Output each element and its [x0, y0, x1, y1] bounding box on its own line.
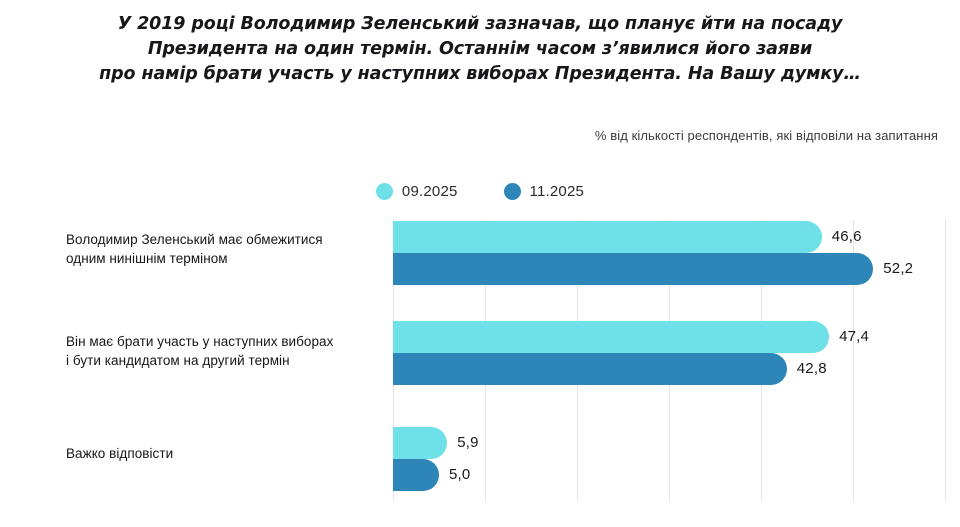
bar-s0-c0[interactable] — [393, 221, 822, 253]
chart-legend: 09.2025 11.2025 — [0, 183, 960, 200]
bar-value-s0-c2: 5,9 — [457, 427, 478, 459]
page-title: У 2019 році Володимир Зеленський зазнача… — [0, 12, 960, 87]
bar-value-s0-c1: 47,4 — [839, 321, 869, 353]
chart-plot-area: Володимир Зеленський має обмежитися одни… — [0, 212, 960, 507]
chart-subcaption: % від кількості респондентів, які відпов… — [595, 128, 938, 143]
legend-dot-icon — [504, 183, 521, 200]
bar-value-s0-c0: 46,6 — [832, 221, 862, 253]
bar-value-s1-c1: 42,8 — [797, 353, 827, 385]
category-label-2: Важко відповісти — [66, 444, 386, 463]
category-label-2-line-1: Важко відповісти — [66, 444, 386, 463]
legend-dot-icon — [376, 183, 393, 200]
title-line-2: Президента на один термін. Останнім часо… — [0, 37, 960, 62]
bar-s1-c0[interactable] — [393, 253, 873, 285]
category-label-0-line-2: одним нинішнім терміном — [66, 249, 386, 268]
bar-s1-c2[interactable] — [393, 459, 439, 491]
title-line-3: про намір брати участь у наступних вибор… — [0, 62, 960, 87]
bar-s0-c2[interactable] — [393, 427, 447, 459]
bar-s1-c1[interactable] — [393, 353, 787, 385]
category-label-1-line-2: і бути кандидатом на другий термін — [66, 351, 386, 370]
category-label-0-line-1: Володимир Зеленський має обмежитися — [66, 230, 386, 249]
bar-s0-c1[interactable] — [393, 321, 829, 353]
legend-item-1[interactable]: 11.2025 — [504, 183, 585, 200]
bar-value-s1-c0: 52,2 — [883, 253, 913, 285]
legend-item-0[interactable]: 09.2025 — [376, 183, 458, 200]
legend-label-1: 11.2025 — [530, 183, 585, 200]
category-label-1-line-1: Він має брати участь у наступних виборах — [66, 332, 386, 351]
category-label-0: Володимир Зеленський має обмежитися одни… — [66, 230, 386, 268]
legend-label-0: 09.2025 — [402, 183, 458, 200]
bar-value-s1-c2: 5,0 — [449, 459, 470, 491]
chart-bars: 46,6 52,2 47,4 42,8 5,9 5,0 — [393, 212, 960, 507]
chart-category-axis: Володимир Зеленський має обмежитися одни… — [0, 212, 393, 507]
title-line-1: У 2019 році Володимир Зеленський зазнача… — [0, 12, 960, 37]
category-label-1: Він має брати участь у наступних виборах… — [66, 332, 386, 370]
